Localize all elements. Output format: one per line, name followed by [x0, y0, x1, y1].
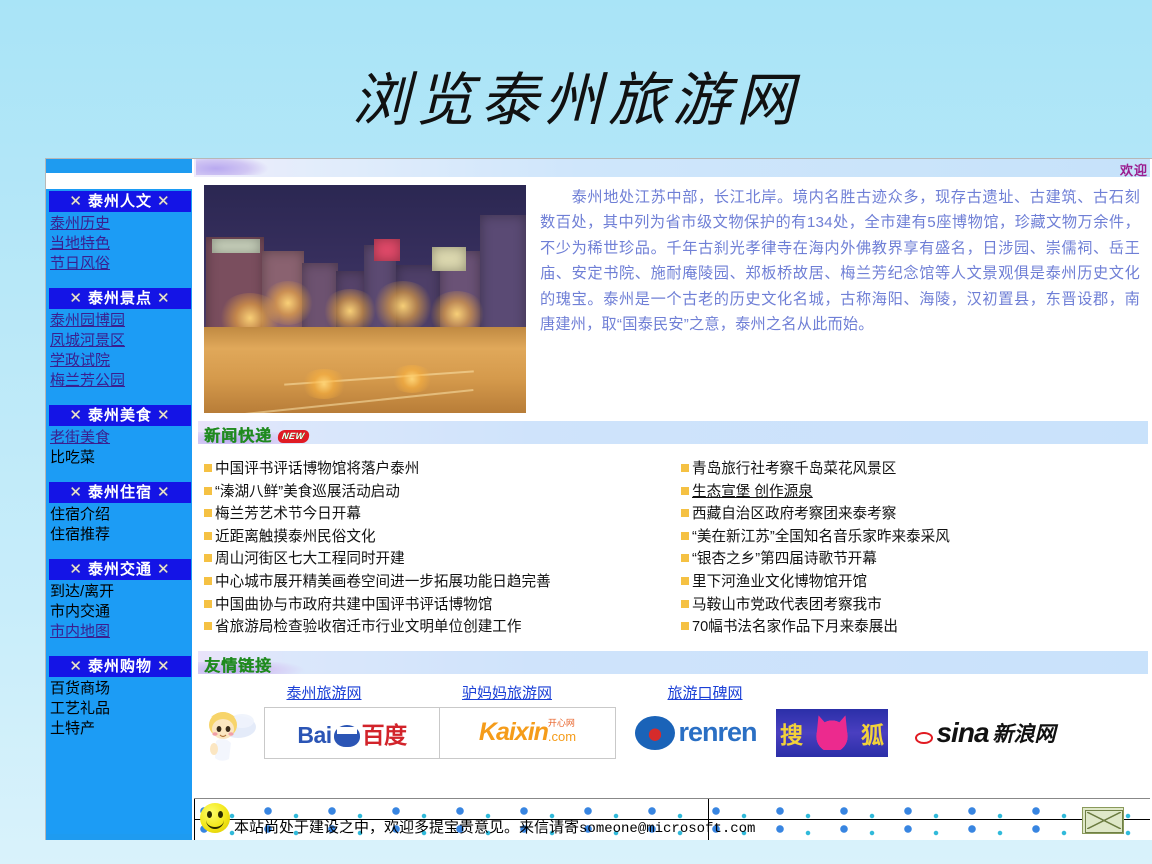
friend-links-text-row: 泰州旅游网 驴妈妈旅游网 旅游口碑网	[198, 678, 1148, 704]
photo-light	[262, 281, 314, 325]
news-item-label: 西藏自治区政府考察团来泰考察	[692, 503, 896, 526]
sidebar-item-city-transport[interactable]: 市内交通	[46, 602, 194, 622]
logo-sohu-left: 搜	[780, 716, 803, 750]
sidebar-group-renwen: ✕泰州人文✕ 泰州历史 当地特色 节日风俗	[46, 191, 194, 274]
sidebar-item-local-specialty[interactable]: 土特产	[46, 719, 194, 739]
news-item-label: 梅兰芳艺术节今日开幕	[215, 503, 361, 526]
news-item[interactable]: 中国曲协与市政府共建中国评书评话博物馆	[204, 594, 671, 617]
footer-message: 本站尚处于建设之中，欢迎多提宝贵意见。来信请寄someone@microsoft…	[234, 818, 755, 839]
intro-paragraph: 泰州地处江苏中部，长江北岸。境内名胜古迹众多，现存古遗址、古建筑、古石刻数百处，…	[540, 185, 1146, 413]
renren-icon	[635, 716, 675, 750]
bullet-icon	[204, 487, 212, 495]
sidebar-item-meilanfang-park[interactable]: 梅兰芳公园	[46, 371, 194, 391]
sidebar-group-gouwu: ✕泰州购物✕ 百货商场 工艺礼品 土特产	[46, 656, 194, 739]
news-item[interactable]: “溱湖八鲜”美食巡展活动启动	[204, 481, 671, 504]
intro-section: 泰州地处江苏中部，长江北岸。境内名胜古迹众多，现存古遗址、古建筑、古石刻数百处，…	[194, 177, 1152, 417]
logo-sina-sub: 新浪网	[993, 718, 1056, 748]
sidebar-item-xuezheng-academy[interactable]: 学政试院	[46, 351, 194, 371]
bullet-icon	[681, 600, 689, 608]
x-decor-icon: ✕	[64, 559, 88, 580]
news-item[interactable]: 生态宣堡 创作源泉	[681, 481, 1148, 504]
news-item-label: 周山河街区七大工程同时开建	[215, 548, 405, 571]
sidebar-heading-label: 泰州住宿	[88, 482, 152, 503]
x-decor-icon: ✕	[152, 191, 176, 212]
sidebar-heading-renwen: ✕泰州人文✕	[49, 191, 191, 212]
news-item-label: 里下河渔业文化博物馆开馆	[692, 571, 867, 594]
news-section-title: 新闻快递	[204, 428, 272, 444]
news-item-label: 省旅游局检查验收宿迁市行业文明单位创建工作	[215, 616, 521, 639]
news-item-label: 70幅书法名家作品下月来泰展出	[692, 616, 898, 639]
bullet-icon	[681, 509, 689, 517]
fox-icon	[812, 716, 852, 750]
logo-kaixin-extra: 开心网.com	[548, 719, 576, 746]
link-tourism-reputation[interactable]: 旅游口碑网	[600, 684, 810, 704]
bullet-icon	[681, 577, 689, 585]
news-item[interactable]: 周山河街区七大工程同时开建	[204, 548, 671, 571]
city-night-photo	[204, 185, 526, 413]
sidebar-item-lodging-recommend[interactable]: 住宿推荐	[46, 525, 194, 545]
logo-sohu-right: 狐	[861, 716, 884, 750]
x-decor-icon: ✕	[64, 482, 88, 503]
news-item[interactable]: “美在新江苏”全国知名音乐家昨来泰采风	[681, 526, 1148, 549]
sidebar-heading-label: 泰州交通	[88, 559, 152, 580]
news-item-label: 中心城市展开精美画卷空间进一步拓展功能日趋完善	[215, 571, 551, 594]
logo-baidu-main: Bai	[297, 722, 331, 748]
news-item[interactable]: “银杏之乡”第四届诗歌节开幕	[681, 548, 1148, 571]
news-item[interactable]: 西藏自治区政府考察团来泰考察	[681, 503, 1148, 526]
photo-signboard	[212, 239, 260, 253]
sidebar-heading-label: 泰州景点	[88, 288, 152, 309]
logo-baidu-sub: 百度	[362, 722, 407, 748]
news-item[interactable]: 中国评书评话博物馆将落户泰州	[204, 458, 671, 481]
news-item-label: “银杏之乡”第四届诗歌节开幕	[692, 548, 877, 571]
bullet-icon	[681, 622, 689, 630]
link-taizhou-tourism[interactable]: 泰州旅游网	[234, 684, 414, 704]
sidebar-top-spacer	[46, 173, 194, 189]
welcome-text: 欢迎	[1120, 160, 1148, 177]
footer-message-text: 本站尚处于建设之中，欢迎多提宝贵意见。来信请寄	[234, 819, 579, 836]
sidebar-item-bichicai[interactable]: 比吃菜	[46, 448, 194, 468]
logo-renren-main: renren	[678, 717, 756, 748]
friend-links-logo-row: Bai百度 Kaixin开心网.com renren 搜 狐 sina新浪网	[198, 704, 1148, 760]
sidebar-item-department-store[interactable]: 百货商场	[46, 679, 194, 699]
logo-baidu-text: Bai百度	[297, 716, 406, 750]
angel-svg	[198, 705, 264, 761]
sidebar-heading-gouwu: ✕泰州购物✕	[49, 656, 191, 677]
news-column-right: 青岛旅行社考察千岛菜花风景区 生态宣堡 创作源泉 西藏自治区政府考察团来泰考察 …	[681, 458, 1148, 639]
x-decor-icon: ✕	[64, 191, 88, 212]
sidebar-item-taizhou-history[interactable]: 泰州历史	[46, 214, 194, 234]
news-item[interactable]: 70幅书法名家作品下月来泰展出	[681, 616, 1148, 639]
bullet-icon	[204, 622, 212, 630]
links-section-title: 友情链接	[204, 652, 272, 674]
photo-light	[390, 365, 434, 393]
news-item-label: 马鞍山市党政代表团考察我市	[692, 594, 882, 617]
sidebar-heading-meishi: ✕泰州美食✕	[49, 405, 191, 426]
bullet-icon	[681, 532, 689, 540]
x-decor-icon: ✕	[152, 559, 176, 580]
site-top-banner: 欢迎	[194, 159, 1152, 177]
news-lists: 中国评书评话博物馆将落户泰州 “溱湖八鲜”美食巡展活动启动 梅兰芳艺术节今日开幕…	[194, 444, 1152, 647]
main-content: 欢迎	[194, 159, 1152, 840]
bullet-icon	[204, 464, 212, 472]
bullet-icon	[204, 600, 212, 608]
sidebar-heading-label: 泰州人文	[88, 191, 152, 212]
friend-links: 泰州旅游网 驴妈妈旅游网 旅游口碑网	[194, 674, 1152, 760]
bullet-icon	[681, 464, 689, 472]
news-item[interactable]: 梅兰芳艺术节今日开幕	[204, 503, 671, 526]
baidu-paw-icon	[334, 725, 360, 747]
sidebar-group-zhusu: ✕泰州住宿✕ 住宿介绍 住宿推荐	[46, 482, 194, 545]
sidebar-item-old-street-food[interactable]: 老街美食	[46, 428, 194, 448]
sidebar-item-fengcheng-river[interactable]: 凤城河景区	[46, 331, 194, 351]
photo-signboard	[432, 247, 466, 271]
sidebar-heading-jingdian: ✕泰州景点✕	[49, 288, 191, 309]
news-item-label: “溱湖八鲜”美食巡展活动启动	[215, 481, 400, 504]
smiley-icon	[200, 803, 230, 833]
news-item[interactable]: 省旅游局检查验收宿迁市行业文明单位创建工作	[204, 616, 671, 639]
logo-kaixin-tag: 开心网	[548, 719, 576, 728]
sidebar-heading-label: 泰州美食	[88, 405, 152, 426]
news-item-label: 近距离触摸泰州民俗文化	[215, 526, 376, 549]
x-decor-icon: ✕	[152, 288, 176, 309]
x-decor-icon: ✕	[152, 482, 176, 503]
news-section-bar: 新闻快递NEW	[198, 421, 1148, 444]
x-decor-icon: ✕	[64, 288, 88, 309]
logo-renren[interactable]: renren	[616, 707, 776, 759]
sidebar-heading-jiaotong: ✕泰州交通✕	[49, 559, 191, 580]
logo-kaixin-main: Kaixin	[479, 718, 548, 747]
news-section-title-wrap: 新闻快递NEW	[204, 422, 309, 444]
sidebar-item-festival-customs[interactable]: 节日风俗	[46, 254, 194, 274]
news-item[interactable]: 里下河渔业文化博物馆开馆	[681, 571, 1148, 594]
x-decor-icon: ✕	[64, 656, 88, 677]
sidebar-group-jingdian: ✕泰州景点✕ 泰州园博园 凤城河景区 学政试院 梅兰芳公园	[46, 288, 194, 391]
sidebar-item-local-features[interactable]: 当地特色	[46, 234, 194, 254]
sidebar: ✕泰州人文✕ 泰州历史 当地特色 节日风俗 ✕泰州景点✕ 泰州园博园 凤城河景区…	[46, 159, 194, 840]
logo-sohu[interactable]: 搜 狐	[776, 709, 888, 757]
logo-baidu[interactable]: Bai百度	[264, 707, 440, 759]
sina-eye-icon	[910, 726, 936, 740]
news-item-label: 中国评书评话博物馆将落户泰州	[215, 458, 419, 481]
cloud-decor-icon	[196, 159, 276, 175]
bullet-icon	[204, 532, 212, 540]
sidebar-heading-zhusu: ✕泰州住宿✕	[49, 482, 191, 503]
news-item[interactable]: 青岛旅行社考察千岛菜花风景区	[681, 458, 1148, 481]
news-item[interactable]: 马鞍山市党政代表团考察我市	[681, 594, 1148, 617]
bullet-icon	[204, 554, 212, 562]
bullet-icon	[681, 554, 689, 562]
footer-divider-left	[194, 799, 195, 840]
sidebar-heading-label: 泰州购物	[88, 656, 152, 677]
logo-sina[interactable]: sina新浪网	[888, 707, 1078, 759]
page-title: 浏览泰州旅游网	[0, 62, 1152, 138]
news-item-label: 青岛旅行社考察千岛菜花风景区	[692, 458, 896, 481]
logo-kaixin-sub: .com	[548, 729, 576, 744]
sidebar-group-jiaotong: ✕泰州交通✕ 到达/离开 市内交通 市内地图	[46, 559, 194, 642]
new-badge-icon: NEW	[277, 430, 309, 443]
browser-page-frame: ✕泰州人文✕ 泰州历史 当地特色 节日风俗 ✕泰州景点✕ 泰州园博园 凤城河景区…	[45, 158, 1152, 840]
news-item[interactable]: 近距离触摸泰州民俗文化	[204, 526, 671, 549]
x-decor-icon: ✕	[152, 656, 176, 677]
x-decor-icon: ✕	[64, 405, 88, 426]
photo-light	[372, 281, 434, 331]
logo-sina-main: sina	[936, 717, 988, 749]
bullet-icon	[681, 487, 689, 495]
bullet-icon	[204, 577, 212, 585]
x-decor-icon: ✕	[152, 405, 176, 426]
sidebar-item-garden-expo[interactable]: 泰州园博园	[46, 311, 194, 331]
sidebar-item-handicraft-gifts[interactable]: 工艺礼品	[46, 699, 194, 719]
sidebar-item-arrive-depart[interactable]: 到达/离开	[46, 582, 194, 602]
bullet-icon	[204, 509, 212, 517]
angel-mascot-icon	[198, 705, 264, 761]
photo-light	[300, 369, 348, 399]
sidebar-group-meishi: ✕泰州美食✕ 老街美食 比吃菜	[46, 405, 194, 468]
footer-marquee: 本站尚处于建设之中，欢迎多提宝贵意见。来信请寄someone@microsoft…	[194, 798, 1152, 840]
sidebar-nav: ✕泰州人文✕ 泰州历史 当地特色 节日风俗 ✕泰州景点✕ 泰州园博园 凤城河景区…	[46, 189, 194, 834]
envelope-icon	[1082, 807, 1124, 834]
news-item-label: 生态宣堡 创作源泉	[692, 481, 813, 504]
link-lvmama[interactable]: 驴妈妈旅游网	[414, 684, 600, 704]
links-section-bar: 友情链接	[198, 651, 1148, 674]
news-item[interactable]: 中心城市展开精美画卷空间进一步拓展功能日趋完善	[204, 571, 671, 594]
news-column-left: 中国评书评话博物馆将落户泰州 “溱湖八鲜”美食巡展活动启动 梅兰芳艺术节今日开幕…	[204, 458, 671, 639]
logo-kaixin[interactable]: Kaixin开心网.com	[440, 707, 616, 759]
photo-signboard	[374, 239, 400, 261]
sidebar-item-lodging-intro[interactable]: 住宿介绍	[46, 505, 194, 525]
footer-email[interactable]: someone@microsoft.com	[579, 821, 755, 837]
sidebar-item-city-map[interactable]: 市内地图	[46, 622, 194, 642]
news-item-label: “美在新江苏”全国知名音乐家昨来泰采风	[692, 526, 950, 549]
news-item-label: 中国曲协与市政府共建中国评书评话博物馆	[215, 594, 492, 617]
